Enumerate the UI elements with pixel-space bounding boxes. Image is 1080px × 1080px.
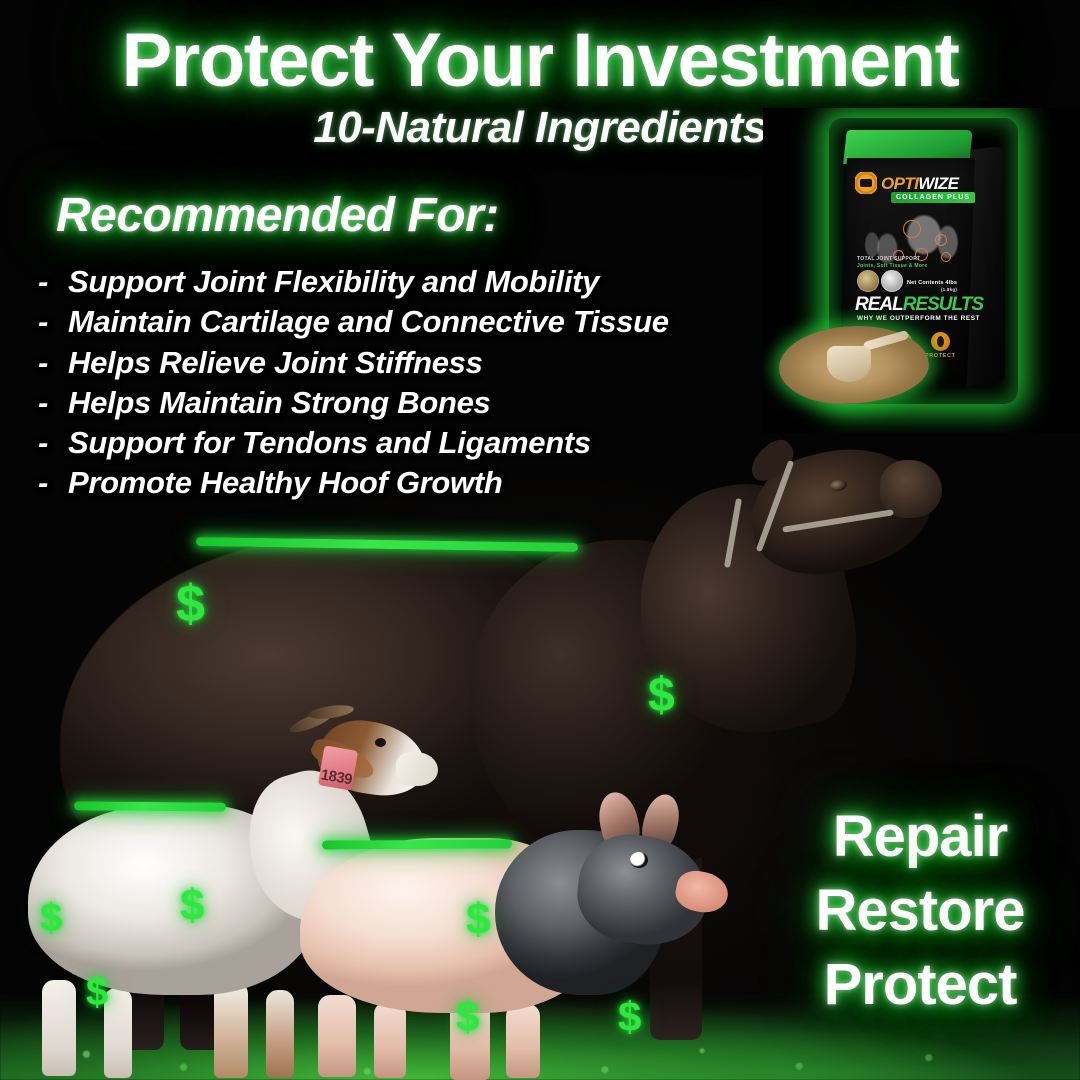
dollar-sign-icon: $ bbox=[86, 972, 108, 1012]
results-text: RESULTS bbox=[903, 294, 983, 315]
page-title: Protect Your Investment bbox=[0, 22, 1080, 100]
goat-ear-tag: 1839 bbox=[318, 745, 358, 790]
brand-wize-text: WIZE bbox=[918, 174, 958, 193]
bullet-dash-icon: - bbox=[38, 385, 68, 421]
benefit-item: -Support Joint Flexibility and Mobility bbox=[38, 264, 669, 300]
topline-accent-pig bbox=[322, 840, 512, 850]
goat-muzzle bbox=[396, 752, 438, 786]
net-contents-metric: (1.8kg) bbox=[907, 287, 957, 293]
tagline-protect: Protect bbox=[770, 948, 1070, 1022]
product-sublabel: COLLAGEN PLUS bbox=[891, 192, 975, 203]
net-contents-text: Net Contents 4lbs (1.8kg) bbox=[907, 280, 957, 294]
pig-image bbox=[300, 790, 730, 1080]
product-image-panel: OPTIWIZE COLLAGEN PLUS TOTAL JOINT SUPPO… bbox=[763, 108, 1080, 433]
dollar-sign-icon: $ bbox=[40, 898, 62, 938]
brand-wordmark: OPTIWIZE bbox=[881, 175, 958, 192]
pig-eye bbox=[630, 852, 648, 868]
bag-total-joint-text: TOTAL JOINT SUPPORT Joints, Soft Tissue … bbox=[857, 256, 928, 270]
bullet-dash-icon: - bbox=[38, 304, 68, 340]
recommended-for-heading: Recommended For: bbox=[56, 190, 499, 243]
benefit-item: -Helps Maintain Strong Bones bbox=[38, 385, 669, 421]
bullet-dash-icon: - bbox=[38, 345, 68, 381]
goat-leg bbox=[266, 990, 294, 1078]
benefit-item-label: Helps Relieve Joint Stiffness bbox=[68, 345, 483, 381]
bag-total-joint-main: TOTAL JOINT SUPPORT bbox=[857, 256, 920, 262]
why-outperform-text: WHY WE OUTPERFORM THE REST bbox=[857, 315, 980, 323]
joint-highlight-icon bbox=[903, 220, 921, 238]
benefit-item-label: Maintain Cartilage and Connective Tissue bbox=[68, 304, 669, 340]
brand-logo: OPTIWIZE bbox=[855, 172, 967, 194]
pig-leg bbox=[374, 1002, 406, 1078]
benefit-item: -Support for Tendons and Ligaments bbox=[38, 425, 669, 461]
dollar-sign-icon: $ bbox=[618, 996, 641, 1038]
benefit-item-label: Promote Healthy Hoof Growth bbox=[68, 465, 503, 501]
goat-eye bbox=[375, 738, 386, 747]
real-results-wordmark: REALRESULTS bbox=[855, 295, 983, 314]
measuring-scoop bbox=[827, 346, 871, 382]
benefit-item-label: Support Joint Flexibility and Mobility bbox=[68, 264, 599, 300]
bag-total-joint-sub: Joints, Soft Tissue & More bbox=[857, 263, 928, 270]
dollar-sign-icon: $ bbox=[456, 996, 479, 1038]
benefit-item: -Helps Relieve Joint Stiffness bbox=[38, 345, 669, 381]
goat-leg bbox=[214, 982, 248, 1078]
advertisement-canvas: 1839 $$$$$$$$ Protect Your Investment 10… bbox=[0, 0, 1080, 1080]
dollar-sign-icon: $ bbox=[648, 672, 675, 720]
bullet-dash-icon: - bbox=[38, 465, 68, 501]
goat-horn bbox=[307, 703, 354, 721]
bullet-dash-icon: - bbox=[38, 425, 68, 461]
benefit-item: -Promote Healthy Hoof Growth bbox=[38, 465, 669, 501]
brand-opti-text: OPTI bbox=[881, 174, 918, 193]
bullet-dash-icon: - bbox=[38, 264, 68, 300]
protect-badge-label: PROTECT bbox=[925, 354, 956, 359]
benefit-item: -Maintain Cartilage and Connective Tissu… bbox=[38, 304, 669, 340]
made-in-usa-seal-icon bbox=[881, 270, 903, 292]
benefits-list: -Support Joint Flexibility and Mobility-… bbox=[38, 264, 669, 506]
benefit-item-label: Helps Maintain Strong Bones bbox=[68, 385, 491, 421]
topline-accent-goat bbox=[74, 801, 226, 811]
dollar-sign-icon: $ bbox=[466, 898, 490, 942]
award-seal-gold-icon bbox=[857, 270, 879, 292]
dollar-sign-icon: $ bbox=[180, 884, 204, 928]
gear-cow-logo-icon bbox=[855, 172, 877, 194]
protect-badge-icon bbox=[931, 332, 950, 351]
net-contents-value: Net Contents 4lbs bbox=[907, 280, 957, 286]
goat-leg bbox=[42, 980, 76, 1076]
joint-highlight-icon bbox=[941, 252, 951, 262]
product-bag: OPTIWIZE COLLAGEN PLUS TOTAL JOINT SUPPO… bbox=[841, 130, 1006, 392]
joint-highlight-icon bbox=[935, 234, 947, 246]
real-text: REAL bbox=[855, 294, 903, 315]
tagline-repair: Repair bbox=[770, 800, 1070, 874]
benefit-item-label: Support for Tendons and Ligaments bbox=[68, 425, 591, 461]
pig-leg bbox=[318, 995, 356, 1077]
tagline-block: Repair Restore Protect bbox=[770, 800, 1070, 1023]
pig-leg bbox=[506, 1004, 540, 1078]
tagline-restore: Restore bbox=[770, 874, 1070, 948]
dollar-sign-icon: $ bbox=[176, 578, 205, 630]
